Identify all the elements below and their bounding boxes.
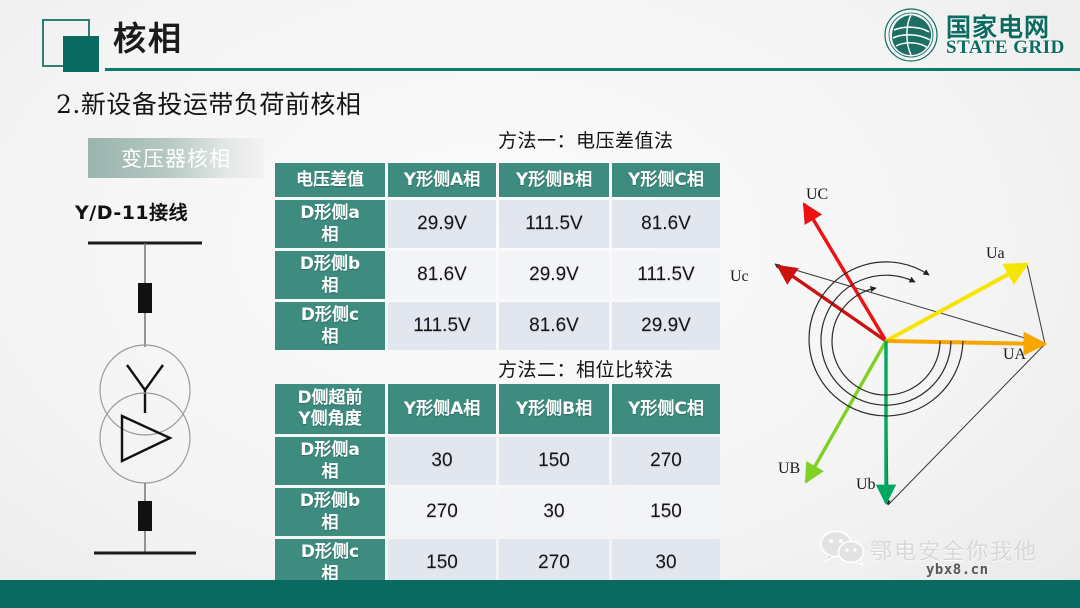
cell: 29.9V: [612, 302, 720, 350]
col-header-2: Y形侧B相: [499, 163, 609, 197]
transformer-tag-label: 变压器核相: [121, 143, 231, 173]
phase-comparison-table: D侧超前Y侧角度 Y形侧A相 Y形侧B相 Y形侧C相 D形侧a相 30 150 …: [272, 381, 723, 590]
col-header-3: Y形侧C相: [612, 163, 720, 197]
transformer-tag-box: 变压器核相: [88, 138, 264, 178]
table-row: D形侧b相 81.6V 29.9V 111.5V: [275, 251, 720, 299]
cell: 111.5V: [612, 251, 720, 299]
col-header-1: Y形侧A相: [388, 163, 496, 197]
header-divider: [105, 68, 1080, 71]
state-grid-logo: 国家电网 STATE GRID: [884, 6, 1072, 66]
phasor-diagram: UC Uc Ua UA UB Ub: [718, 160, 1080, 522]
table-header-row: 电压差值 Y形侧A相 Y形侧B相 Y形侧C相: [275, 163, 720, 197]
cell: 111.5V: [388, 302, 496, 350]
phasor-label-Ub: Ub: [856, 476, 876, 494]
voltage-difference-table: 电压差值 Y形侧A相 Y形侧B相 Y形侧C相 D形侧a相 29.9V 111.5…: [272, 160, 723, 353]
method-1-caption: 方法一：电压差值法: [498, 126, 674, 153]
phasor-label-UC: UC: [806, 186, 828, 204]
method-2-caption: 方法二：相位比较法: [498, 355, 674, 382]
phasor-label-UA: UA: [1003, 346, 1026, 364]
table-row: D形侧b相 270 30 150: [275, 488, 720, 536]
section-subtitle: 2.新设备投运带负荷前核相: [56, 85, 361, 121]
table-header-row: D侧超前Y侧角度 Y形侧A相 Y形侧B相 Y形侧C相: [275, 384, 720, 434]
col-header-0: D侧超前Y侧角度: [275, 384, 385, 434]
vector-Ua: [886, 264, 1027, 341]
col-header-1: Y形侧A相: [388, 384, 496, 434]
cell: 111.5V: [499, 200, 609, 248]
cell: 30: [499, 488, 609, 536]
cell: 30: [388, 437, 496, 485]
phasor-label-Uc: Uc: [730, 268, 749, 286]
wiring-label: Y/D-11接线: [75, 198, 188, 225]
row-header: D形侧b相: [275, 251, 385, 299]
state-grid-globe-icon: [884, 8, 938, 62]
watermark-url: ybx8.cn: [926, 562, 989, 578]
transformer-one-line-diagram: [70, 235, 220, 565]
vector-UC: [804, 204, 886, 341]
cell: 81.6V: [499, 302, 609, 350]
col-header-2: Y形侧B相: [499, 384, 609, 434]
vector-UA: [886, 341, 1045, 344]
wechat-icon: [820, 530, 866, 566]
row-header: D形侧a相: [275, 437, 385, 485]
cell: 270: [388, 488, 496, 536]
watermark: 鄂电安全你我他 ybx8.cn: [820, 530, 1060, 574]
phasor-label-Ua: Ua: [986, 245, 1005, 263]
table-row: D形侧c相 111.5V 81.6V 29.9V: [275, 302, 720, 350]
vector-UB: [806, 341, 886, 482]
table-row: D形侧a相 30 150 270: [275, 437, 720, 485]
cell: 29.9V: [499, 251, 609, 299]
cell: 81.6V: [612, 200, 720, 248]
cell: 29.9V: [388, 200, 496, 248]
col-header-3: Y形侧C相: [612, 384, 720, 434]
cell: 270: [612, 437, 720, 485]
col-header-0: 电压差值: [275, 163, 385, 197]
square-filled-icon: [63, 36, 99, 72]
logo-name-en: STATE GRID: [946, 37, 1065, 59]
phasor-svg: [718, 160, 1080, 522]
row-header: D形侧c相: [275, 302, 385, 350]
page-title: 核相: [113, 17, 183, 61]
slide-canvas: 核相 国家电网 STATE GRID 2.新设备投运带负荷前核相 变压器核相 Y…: [0, 0, 1080, 608]
row-header: D形侧b相: [275, 488, 385, 536]
phasor-label-UB: UB: [778, 460, 800, 478]
row-header: D形侧a相: [275, 200, 385, 248]
cell: 150: [612, 488, 720, 536]
cell: 81.6V: [388, 251, 496, 299]
footer-bar: [0, 580, 1080, 608]
table-row: D形侧a相 29.9V 111.5V 81.6V: [275, 200, 720, 248]
cell: 150: [499, 437, 609, 485]
